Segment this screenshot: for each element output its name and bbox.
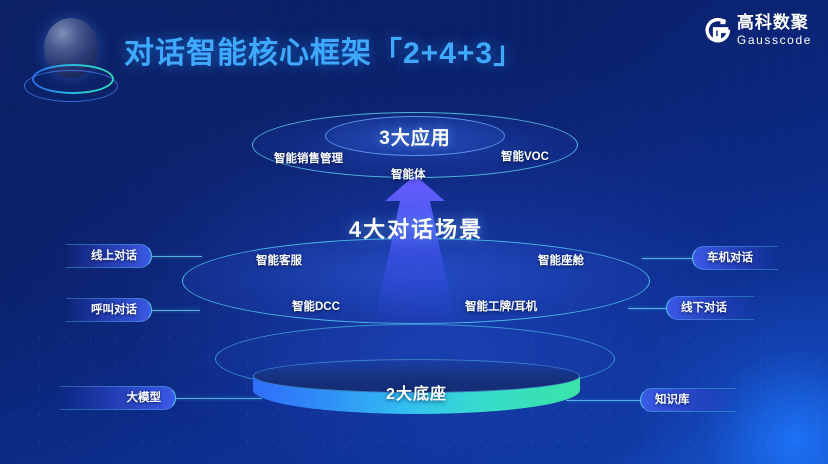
orb-outer-ellipse-icon [24,70,118,102]
application-item-voc: 智能VOC [501,148,549,164]
scenario-item-dcc: 智能DCC [292,298,340,314]
foundation-heading: 2大底座 [253,380,580,404]
scenarios-ellipse [182,238,650,324]
foundation-cylinder: 2大底座 [253,368,580,424]
brand-logo: 高科数聚 Gausscode [705,14,812,46]
connector-line-kb [566,400,642,401]
sphere-orb-icon [24,12,116,104]
logo-name-cn: 高科数聚 [737,14,812,31]
scenario-item-service: 智能客服 [256,252,302,268]
applications-heading: 3大应用 [252,123,578,150]
connector-line-car [642,258,694,259]
logo-name-en: Gausscode [737,34,812,46]
tag-knowledge-base[interactable]: 知识库 [640,388,736,412]
tag-large-model[interactable]: 大模型 [60,386,176,410]
gausscode-logo-mark-icon [705,17,731,43]
scenario-item-badge-headset: 智能工牌/耳机 [465,298,537,314]
slide-canvas: 对话智能核心框架「2+4+3」 高科数聚 Gausscode [0,0,828,464]
tag-call-dialog[interactable]: 呼叫对话 [66,298,152,322]
scenarios-heading: 4大对话场景 [182,212,650,244]
tag-invehicle-dialog[interactable]: 车机对话 [692,246,778,270]
connector-line-offline [628,308,668,309]
connector-line-online [152,256,202,257]
tag-offline-dialog[interactable]: 线下对话 [666,296,754,320]
connector-line-call [152,310,200,311]
page-title: 对话智能核心框架「2+4+3」 [124,28,524,72]
scenario-item-cabin: 智能座舱 [538,252,584,268]
tag-online-dialog[interactable]: 线上对话 [66,244,152,268]
agent-label: 智能体 [391,166,426,182]
application-item-sales: 智能销售管理 [274,150,343,166]
connector-line-llm [176,398,262,399]
